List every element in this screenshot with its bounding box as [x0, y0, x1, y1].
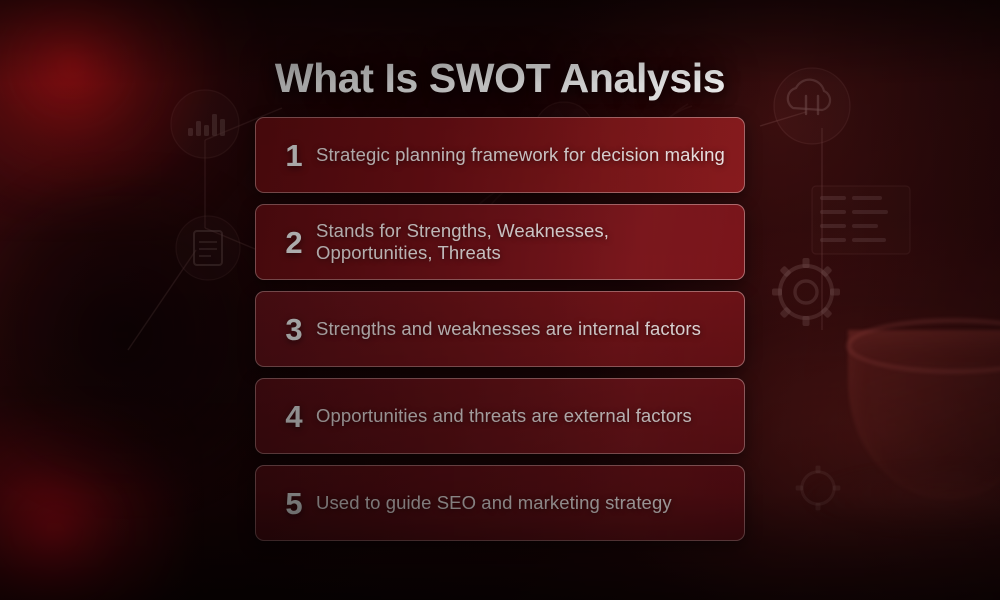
background-vignette — [0, 0, 1000, 600]
infographic-canvas: What Is SWOT Analysis 1 Strategic planni… — [0, 0, 1000, 600]
